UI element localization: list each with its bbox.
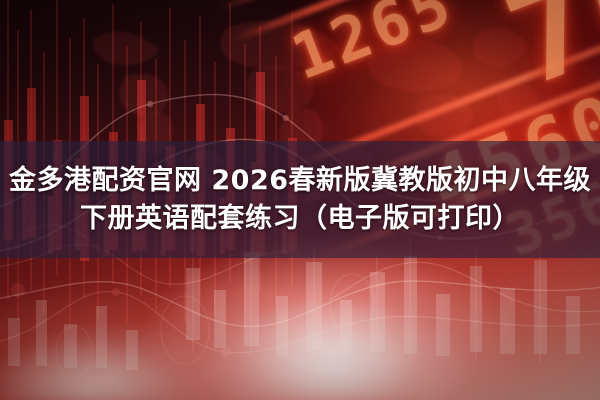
caption-text-block: 金多港配资官网 2026春新版冀教版初中八年级 下册英语配套练习（电子版可打印） [0,141,600,258]
led-digits-1265: 1265 [282,0,464,94]
market-banner-image: 1265 70 4560 3562 金多港配资官网 2026春新版冀教版初中八年… [0,0,600,400]
caption-line-1: 金多港配资官网 2026春新版冀教版初中八年级 [9,165,591,197]
caption-line-2: 下册英语配套练习（电子版可打印） [80,203,520,235]
